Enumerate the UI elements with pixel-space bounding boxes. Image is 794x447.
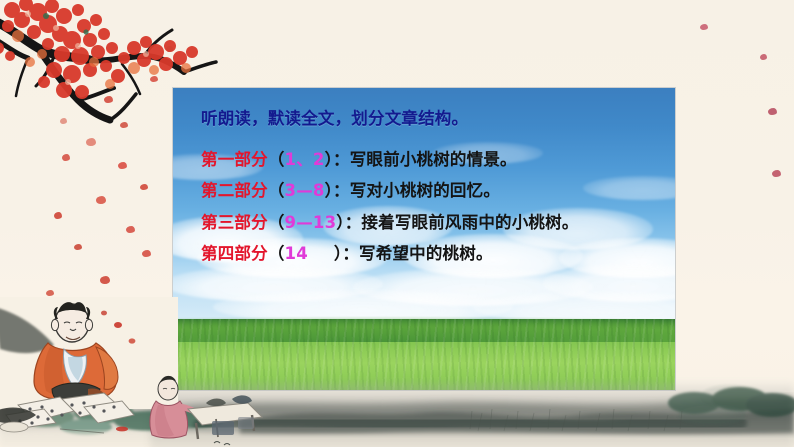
- colon: ：: [345, 213, 362, 232]
- petal: [134, 300, 143, 307]
- petal: [126, 226, 135, 233]
- colon: ：: [342, 244, 359, 263]
- item-description: 写眼前小桃树的情景。: [350, 150, 517, 169]
- paren-open: （: [268, 213, 285, 232]
- colon: ：: [333, 150, 350, 169]
- petal: [768, 108, 777, 115]
- part-label: 第四部分: [201, 244, 268, 263]
- petal: [46, 290, 54, 296]
- part-label: 第三部分: [201, 213, 268, 232]
- petal: [104, 96, 113, 103]
- petal: [150, 76, 158, 82]
- part-label: 第一部分: [201, 150, 268, 169]
- text-layer: 听朗读，默读全文，划分文章结构。 第一部分（1、2）：写眼前小桃树的情景。 第二…: [173, 88, 675, 390]
- structure-item-3: 第三部分（9—13）：接着写眼前风雨中的小桃树。: [201, 215, 675, 232]
- grassland-sky-photo-panel: 听朗读，默读全文，划分文章结构。 第一部分（1、2）：写眼前小桃树的情景。 第二…: [173, 88, 675, 390]
- paren-close: ）: [325, 150, 333, 169]
- petal: [54, 212, 62, 219]
- petal: [118, 162, 127, 169]
- item-description: 接着写眼前风雨中的小桃树。: [361, 213, 578, 232]
- petal: [120, 122, 128, 128]
- petal: [96, 196, 106, 204]
- item-description: 写对小桃树的回忆。: [350, 181, 500, 200]
- petal: [166, 46, 173, 52]
- structure-item-4: 第四部分（14）：写希望中的桃树。: [201, 246, 675, 263]
- slide-title: 听朗读，默读全文，划分文章结构。: [201, 111, 675, 128]
- petal: [86, 138, 96, 146]
- petal: [700, 24, 708, 30]
- part-label: 第二部分: [201, 181, 268, 200]
- colon: ：: [333, 181, 350, 200]
- paragraph-range: 14: [285, 244, 308, 263]
- item-description: 写希望中的桃树。: [359, 244, 493, 263]
- paren-open: （: [268, 244, 285, 263]
- paren-open: （: [268, 150, 285, 169]
- petal: [60, 118, 67, 124]
- structure-item-2: 第二部分（3—8）：写对小桃树的回忆。: [201, 183, 675, 200]
- structure-item-1: 第一部分（1、2）：写眼前小桃树的情景。: [201, 152, 675, 169]
- paren-close: ）: [336, 213, 344, 232]
- paren-open: （: [268, 181, 285, 200]
- slide-canvas: 听朗读，默读全文，划分文章结构。 第一部分（1、2）：写眼前小桃树的情景。 第二…: [0, 0, 794, 447]
- petal: [100, 276, 110, 284]
- petal: [772, 170, 781, 177]
- petal: [140, 184, 148, 190]
- petal: [142, 250, 151, 257]
- paren-close: ）: [325, 181, 333, 200]
- paragraph-range: 9—13: [285, 213, 337, 232]
- petal: [74, 244, 82, 250]
- petal: [62, 154, 70, 161]
- paragraph-range: 3—8: [285, 181, 325, 200]
- paragraph-range: 1、2: [285, 150, 325, 169]
- petal: [760, 54, 767, 60]
